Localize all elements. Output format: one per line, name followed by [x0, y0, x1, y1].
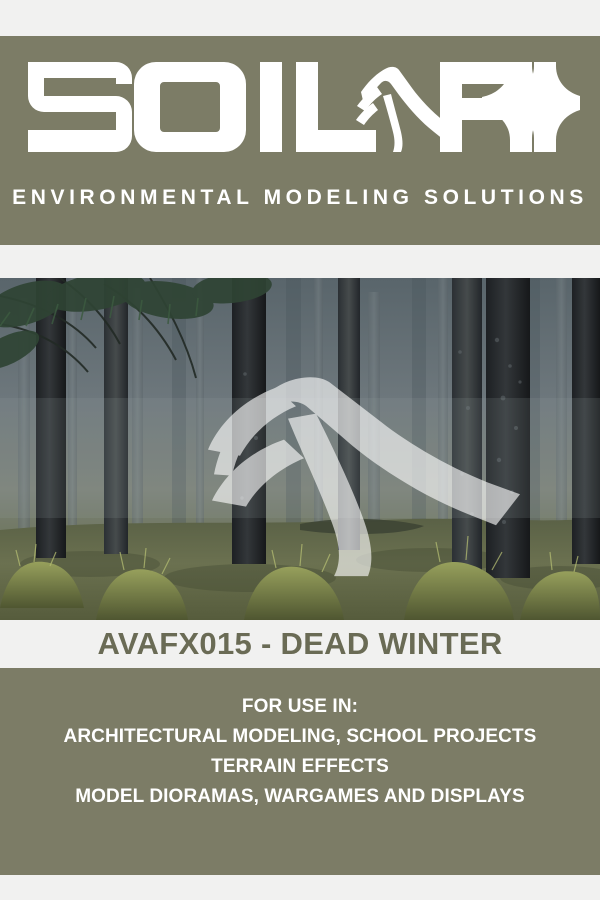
product-title-band: AVAFX015 - DEAD WINTER	[0, 620, 600, 668]
usage-heading: FOR USE IN:	[0, 692, 600, 722]
product-title: AVAFX015 - DEAD WINTER	[97, 626, 502, 662]
soilfx-wordmark	[0, 48, 600, 168]
hero-photo	[0, 278, 600, 620]
brand-tagline: ENVIRONMENTAL MODELING SOLUTIONS	[0, 186, 600, 210]
usage-line-1: ARCHITECTURAL MODELING, SCHOOL PROJECTS	[0, 722, 600, 752]
usage-line-3: MODEL DIORAMAS, WARGAMES AND DISPLAYS	[0, 782, 600, 812]
forest-scene-graphic	[0, 278, 600, 620]
wordmark-graphic	[20, 48, 580, 166]
brand-header: ENVIRONMENTAL MODELING SOLUTIONS	[0, 36, 600, 245]
usage-text-block: FOR USE IN: ARCHITECTURAL MODELING, SCHO…	[0, 692, 600, 812]
usage-line-2: TERRAIN EFFECTS	[0, 752, 600, 782]
product-card: ENVIRONMENTAL MODELING SOLUTIONS	[0, 0, 600, 900]
usage-footer: FOR USE IN: ARCHITECTURAL MODELING, SCHO…	[0, 668, 600, 875]
